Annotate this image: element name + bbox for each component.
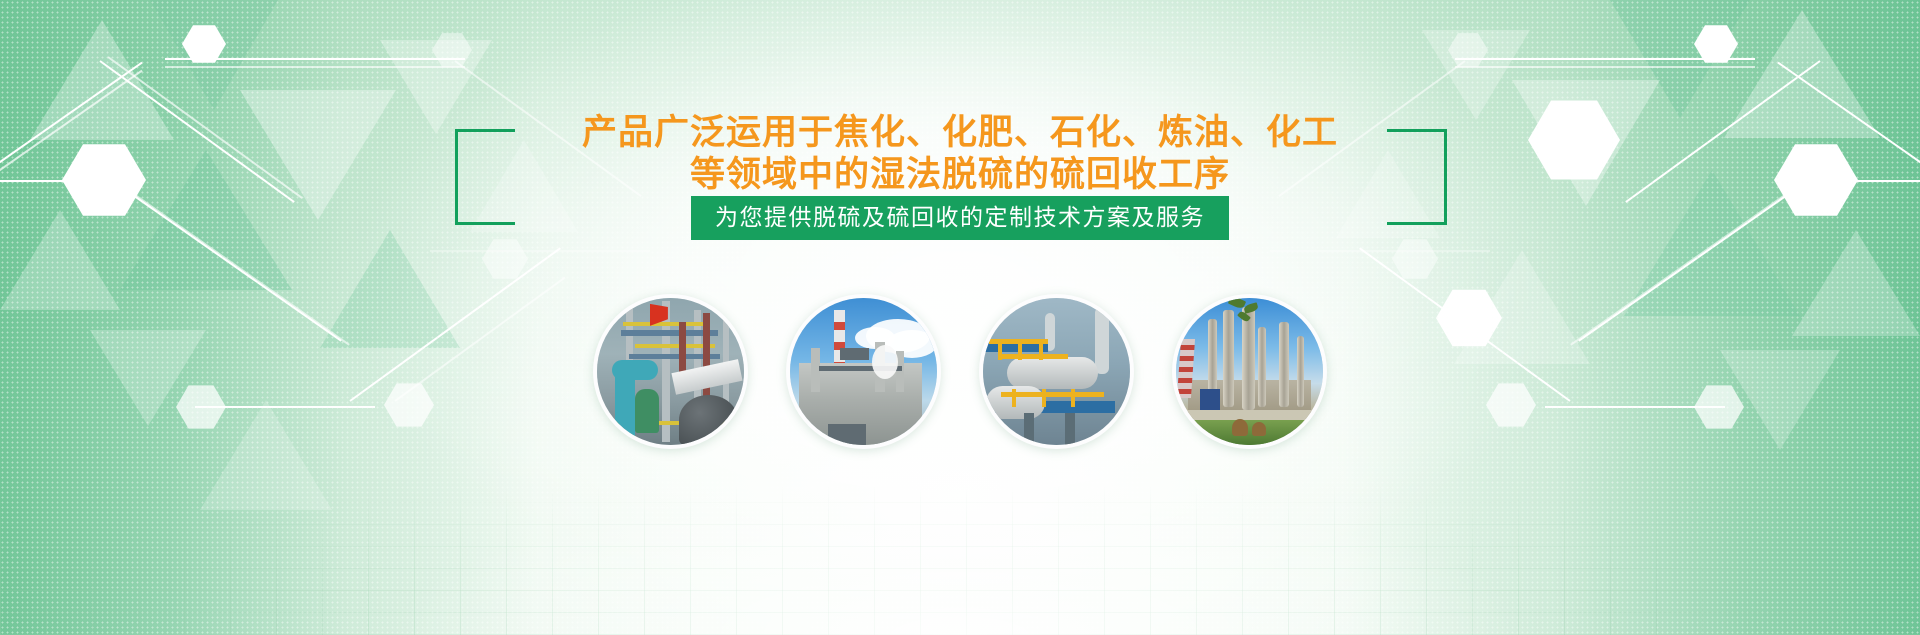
photo-chimney-plant[interactable] bbox=[786, 294, 941, 449]
sub-banner: 为您提供脱硫及硫回收的定制技术方案及服务 bbox=[691, 196, 1229, 240]
photo-row bbox=[0, 294, 1920, 449]
headline: 产品广泛运用于焦化、化肥、石化、炼油、化工 等领域中的湿法脱硫的硫回收工序 bbox=[0, 112, 1920, 196]
photo-refinery-columns[interactable] bbox=[1172, 294, 1327, 449]
photo-pipe-rack[interactable] bbox=[593, 294, 748, 449]
sub-banner-text: 为您提供脱硫及硫回收的定制技术方案及服务 bbox=[715, 205, 1205, 231]
headline-line-1: 产品广泛运用于焦化、化肥、石化、炼油、化工 bbox=[0, 112, 1920, 154]
hero-banner: 产品广泛运用于焦化、化肥、石化、炼油、化工 等领域中的湿法脱硫的硫回收工序 为您… bbox=[0, 0, 1920, 635]
photo-vessel-platform[interactable] bbox=[979, 294, 1134, 449]
headline-line-2: 等领域中的湿法脱硫的硫回收工序 bbox=[0, 154, 1920, 196]
